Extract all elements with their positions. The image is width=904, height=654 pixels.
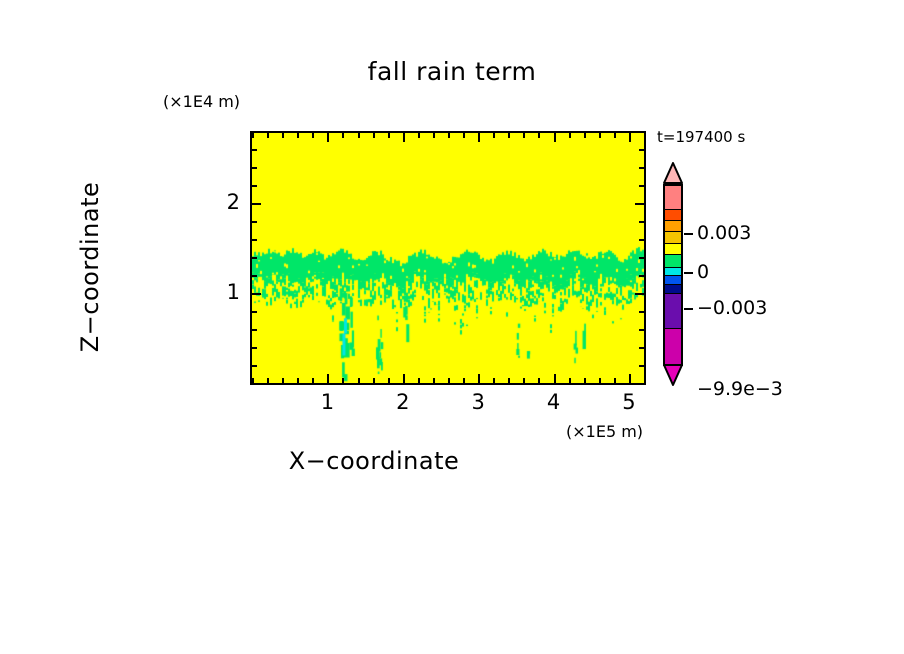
x-minor-tick-top [584,133,586,138]
x-minor-tick-top [538,133,540,138]
x-minor-tick-top [312,133,314,138]
colorbar-tick-label: 0.003 [697,222,751,244]
x-minor-tick-top [448,133,450,138]
y-major-tick-right [635,293,644,295]
colorbar-tick-label: 0 [697,261,709,283]
x-minor-tick [312,378,314,383]
colorbar-tick [684,272,693,274]
x-tick-label: 5 [614,390,644,414]
y-minor-tick-right [639,149,644,151]
y-minor-tick-right [639,239,644,241]
colorbar-band [665,255,681,268]
x-minor-tick [267,378,269,383]
x-minor-tick-top [493,133,495,138]
colorbar-band [665,285,681,294]
x-minor-tick [282,378,284,383]
x-minor-tick [584,378,586,383]
x-major-tick-top [327,133,329,142]
y-minor-tick [252,329,257,331]
x-major-tick-top [403,133,405,142]
x-minor-tick-top [433,133,435,138]
y-minor-tick [252,383,257,385]
colorbar-band [665,294,681,330]
x-minor-tick [418,378,420,383]
colorbar-band [665,186,681,210]
x-minor-tick [358,378,360,383]
y-minor-tick-right [639,167,644,169]
colorbar-band [665,329,681,364]
x-minor-tick-top [282,133,284,138]
colorbar-cap-top [663,162,683,184]
x-major-tick-top [554,133,556,142]
y-minor-tick-right [639,257,644,259]
y-minor-tick [252,185,257,187]
x-minor-tick-top [252,133,254,138]
x-minor-tick-top [418,133,420,138]
x-minor-tick [388,378,390,383]
chart-title: fall rain term [0,57,904,86]
x-minor-tick-top [267,133,269,138]
x-minor-tick [538,378,540,383]
x-tick-label: 2 [388,390,418,414]
x-minor-tick [599,378,601,383]
x-minor-tick-top [508,133,510,138]
y-axis-unit-label: (×1E4 m) [163,92,240,111]
colorbar [663,184,683,366]
y-axis-title: Z−coordinate [76,117,104,417]
x-minor-tick-top [388,133,390,138]
y-tick-label: 2 [210,190,240,214]
x-major-tick [403,374,405,383]
x-major-tick [327,374,329,383]
timestamp-annotation: t=197400 s [657,128,745,146]
y-minor-tick-right [639,383,644,385]
x-tick-label: 4 [539,390,569,414]
x-minor-tick-top [297,133,299,138]
x-minor-tick [523,378,525,383]
x-minor-tick [342,378,344,383]
y-minor-tick-right [639,221,644,223]
x-minor-tick-top [373,133,375,138]
x-minor-tick [493,378,495,383]
colorbar-tick [684,308,693,310]
figure-canvas: fall rain term (×1E4 m) (×1E5 m) t=19740… [0,0,904,654]
x-major-tick-top [478,133,480,142]
y-major-tick-right [635,203,644,205]
colorbar-band [665,244,681,255]
y-minor-tick [252,239,257,241]
colorbar-band [665,276,681,285]
y-minor-tick [252,365,257,367]
x-minor-tick-top [523,133,525,138]
heatmap-field [252,133,644,383]
y-minor-tick [252,257,257,259]
colorbar-cap-bottom [663,364,683,386]
x-minor-tick-top [463,133,465,138]
x-axis-unit-label: (×1E5 m) [566,422,643,441]
x-minor-tick [463,378,465,383]
colorbar-band [665,268,681,277]
y-minor-tick-right [639,311,644,313]
plot-area [250,131,646,385]
y-minor-tick [252,167,257,169]
x-major-tick-top [629,133,631,142]
y-major-tick [252,293,261,295]
y-minor-tick-right [639,365,644,367]
x-minor-tick [644,378,646,383]
x-minor-tick [569,378,571,383]
y-major-tick [252,203,261,205]
x-minor-tick [448,378,450,383]
x-minor-tick [614,378,616,383]
x-minor-tick-top [599,133,601,138]
x-axis-title: X−coordinate [0,447,748,475]
y-minor-tick [252,275,257,277]
x-minor-tick-top [644,133,646,138]
x-major-tick [554,374,556,383]
colorbar-band [665,221,681,232]
x-minor-tick-top [358,133,360,138]
x-tick-label: 3 [463,390,493,414]
y-minor-tick [252,311,257,313]
x-minor-tick [297,378,299,383]
y-minor-tick-right [639,275,644,277]
y-minor-tick [252,149,257,151]
x-minor-tick [508,378,510,383]
x-minor-tick [433,378,435,383]
y-minor-tick-right [639,329,644,331]
colorbar-band [665,232,681,243]
colorbar-band [665,210,681,221]
y-minor-tick [252,347,257,349]
x-major-tick [478,374,480,383]
y-tick-label: 1 [210,280,240,304]
y-minor-tick-right [639,347,644,349]
y-minor-tick-right [639,185,644,187]
x-minor-tick-top [342,133,344,138]
x-tick-label: 1 [312,390,342,414]
x-minor-tick [373,378,375,383]
colorbar-tick [684,233,693,235]
y-minor-tick [252,221,257,223]
x-minor-tick-top [614,133,616,138]
x-major-tick [629,374,631,383]
colorbar-tick-label: −0.003 [697,297,767,319]
colorbar-tick-label: −9.9e−3 [697,378,783,400]
x-minor-tick-top [569,133,571,138]
